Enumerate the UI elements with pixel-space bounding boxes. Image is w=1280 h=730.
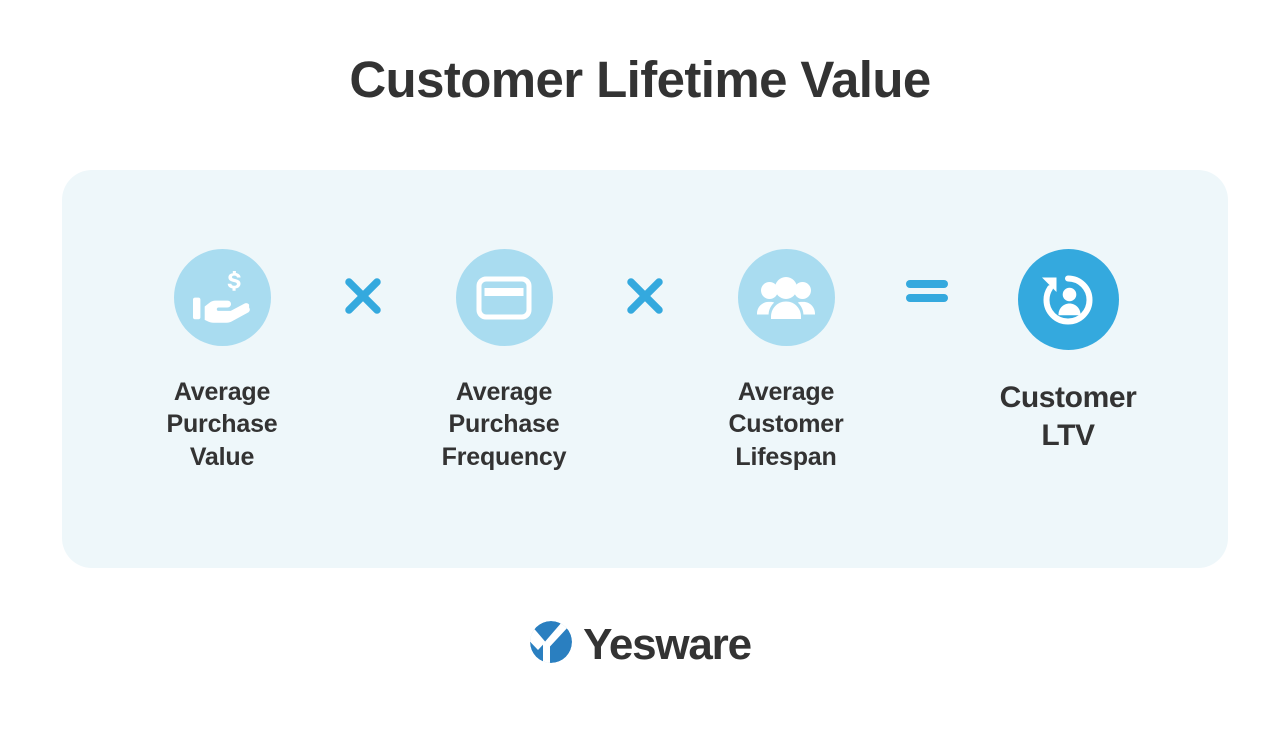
people-group-icon [757,277,815,319]
term-average-purchase-frequency: Average Purchase Frequency [409,249,599,473]
formula-panel: Average Purchase Value [62,170,1228,568]
equals-icon [904,277,950,305]
term-label: Average Customer Lifespan [728,376,843,473]
hand-holding-dollar-icon [193,271,251,325]
operator-equals [881,249,973,305]
brand-wordmark: Yesware [583,623,751,667]
term-label: Average Purchase Frequency [442,376,567,473]
term-label: Customer LTV [1000,379,1137,454]
operator-multiply-1 [317,249,409,315]
term-average-purchase-value: Average Purchase Value [127,249,317,473]
term-icon-circle [456,249,553,346]
infographic-page: Customer Lifetime Value [0,0,1280,730]
term-icon-circle [738,249,835,346]
term-customer-ltv: Customer LTV [973,249,1163,454]
user-return-arrow-icon [1039,271,1097,329]
operator-multiply-2 [599,249,691,315]
credit-card-icon [476,276,532,320]
multiply-icon [626,277,664,315]
formula-row: Average Purchase Value [62,170,1228,568]
brand-logo: Yesware [0,620,1280,669]
page-title: Customer Lifetime Value [349,0,930,108]
term-average-customer-lifespan: Average Customer Lifespan [691,249,881,473]
term-label: Average Purchase Value [167,376,278,473]
multiply-icon [344,277,382,315]
term-icon-circle [1018,249,1119,350]
term-icon-circle [174,249,271,346]
yesware-mark-icon [529,620,573,669]
